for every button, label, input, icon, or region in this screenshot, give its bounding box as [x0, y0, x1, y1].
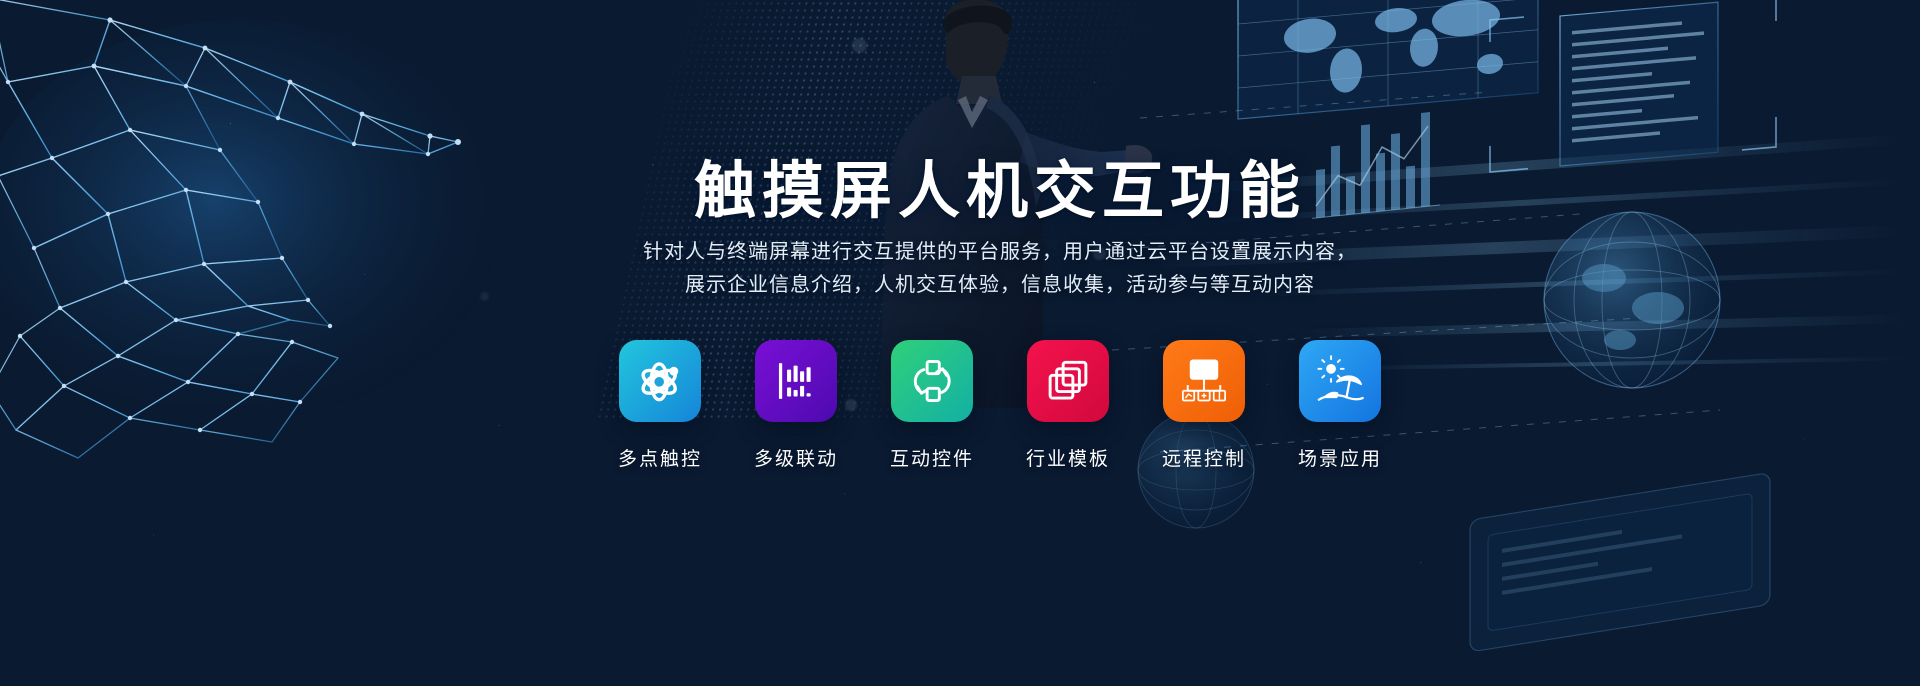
feature-tile[interactable]	[1163, 340, 1245, 422]
feature-tile[interactable]	[1299, 340, 1381, 422]
feature-item-industry-template[interactable]: 行业模板	[1023, 340, 1113, 471]
feature-item-remote-control[interactable]: 远程控制	[1159, 340, 1249, 471]
feature-tile[interactable]	[755, 340, 837, 422]
feature-tile[interactable]	[619, 340, 701, 422]
feature-label: 多级联动	[754, 444, 838, 471]
feature-tile[interactable]	[891, 340, 973, 422]
feature-label: 行业模板	[1026, 444, 1110, 471]
feature-item-multi-touch[interactable]: 多点触控	[615, 340, 705, 471]
feature-item-scene-application[interactable]: 场景应用	[1295, 340, 1385, 471]
feature-tile[interactable]	[1027, 340, 1109, 422]
banner-content: 触摸屏人机交互功能 针对人与终端屏幕进行交互提供的平台服务，用户通过云平台设置展…	[0, 0, 1920, 686]
beach-scene-icon	[1314, 355, 1366, 407]
banner-hero: 触摸屏人机交互功能 针对人与终端屏幕进行交互提供的平台服务，用户通过云平台设置展…	[0, 0, 1920, 686]
monitor-network-icon	[1178, 355, 1230, 407]
bar-chart-icon	[770, 355, 822, 407]
feature-label: 远程控制	[1162, 444, 1246, 471]
feature-label: 互动控件	[890, 444, 974, 471]
page-title: 触摸屏人机交互功能	[0, 140, 1920, 230]
feature-icon-row: 多点触控 多级联动	[0, 340, 1920, 471]
atom-icon	[634, 355, 686, 407]
sync-squares-icon	[906, 355, 958, 407]
subtitle-line-1: 针对人与终端屏幕进行交互提供的平台服务，用户通过云平台设置展示内容，	[80, 236, 1920, 269]
feature-label: 多点触控	[618, 444, 702, 471]
feature-item-multi-level-linkage[interactable]: 多级联动	[751, 340, 841, 471]
subtitle-block: 针对人与终端屏幕进行交互提供的平台服务，用户通过云平台设置展示内容， 展示企业信…	[0, 236, 1920, 302]
subtitle-line-2: 展示企业信息介绍，人机交互体验，信息收集，活动参与等互动内容	[80, 269, 1920, 302]
feature-item-interactive-widget[interactable]: 互动控件	[887, 340, 977, 471]
feature-label: 场景应用	[1298, 444, 1382, 471]
layers-icon	[1042, 355, 1094, 407]
